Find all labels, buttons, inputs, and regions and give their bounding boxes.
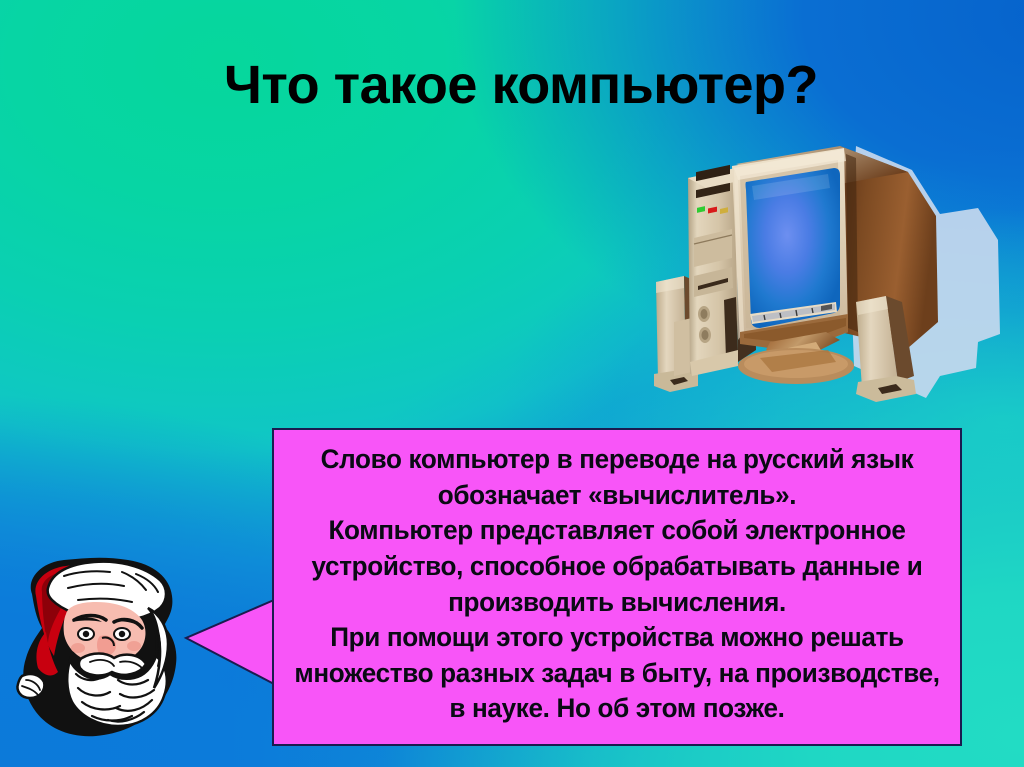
slide-canvas: Что такое компьютер? <box>0 0 1024 767</box>
speech-callout: Слово компьютер в переводе на русский яз… <box>272 428 962 746</box>
callout-line: в наукe. Но об этом позже. <box>293 691 941 727</box>
callout-line: При помощи этого устройства можно решать <box>293 620 941 656</box>
callout-box: Слово компьютер в переводе на русский яз… <box>272 428 962 746</box>
callout-line: устройство, способное обрабатывать данны… <box>293 549 941 585</box>
callout-line: обозначает «вычислитель». <box>293 478 941 514</box>
callout-text: Слово компьютер в переводе на русский яз… <box>288 442 946 727</box>
callout-line: производить вычисления. <box>293 585 941 621</box>
callout-line: множество разных задач в быту, на произв… <box>293 656 941 692</box>
santa-claus-head <box>8 548 220 748</box>
callout-line: Слово компьютер в переводе на русский яз… <box>293 442 941 478</box>
desktop-computer-illustration <box>640 136 1024 412</box>
callout-line: Компьютер представляет собой электронное <box>293 513 941 549</box>
slide-title: Что такое компьютер? <box>0 58 1024 112</box>
